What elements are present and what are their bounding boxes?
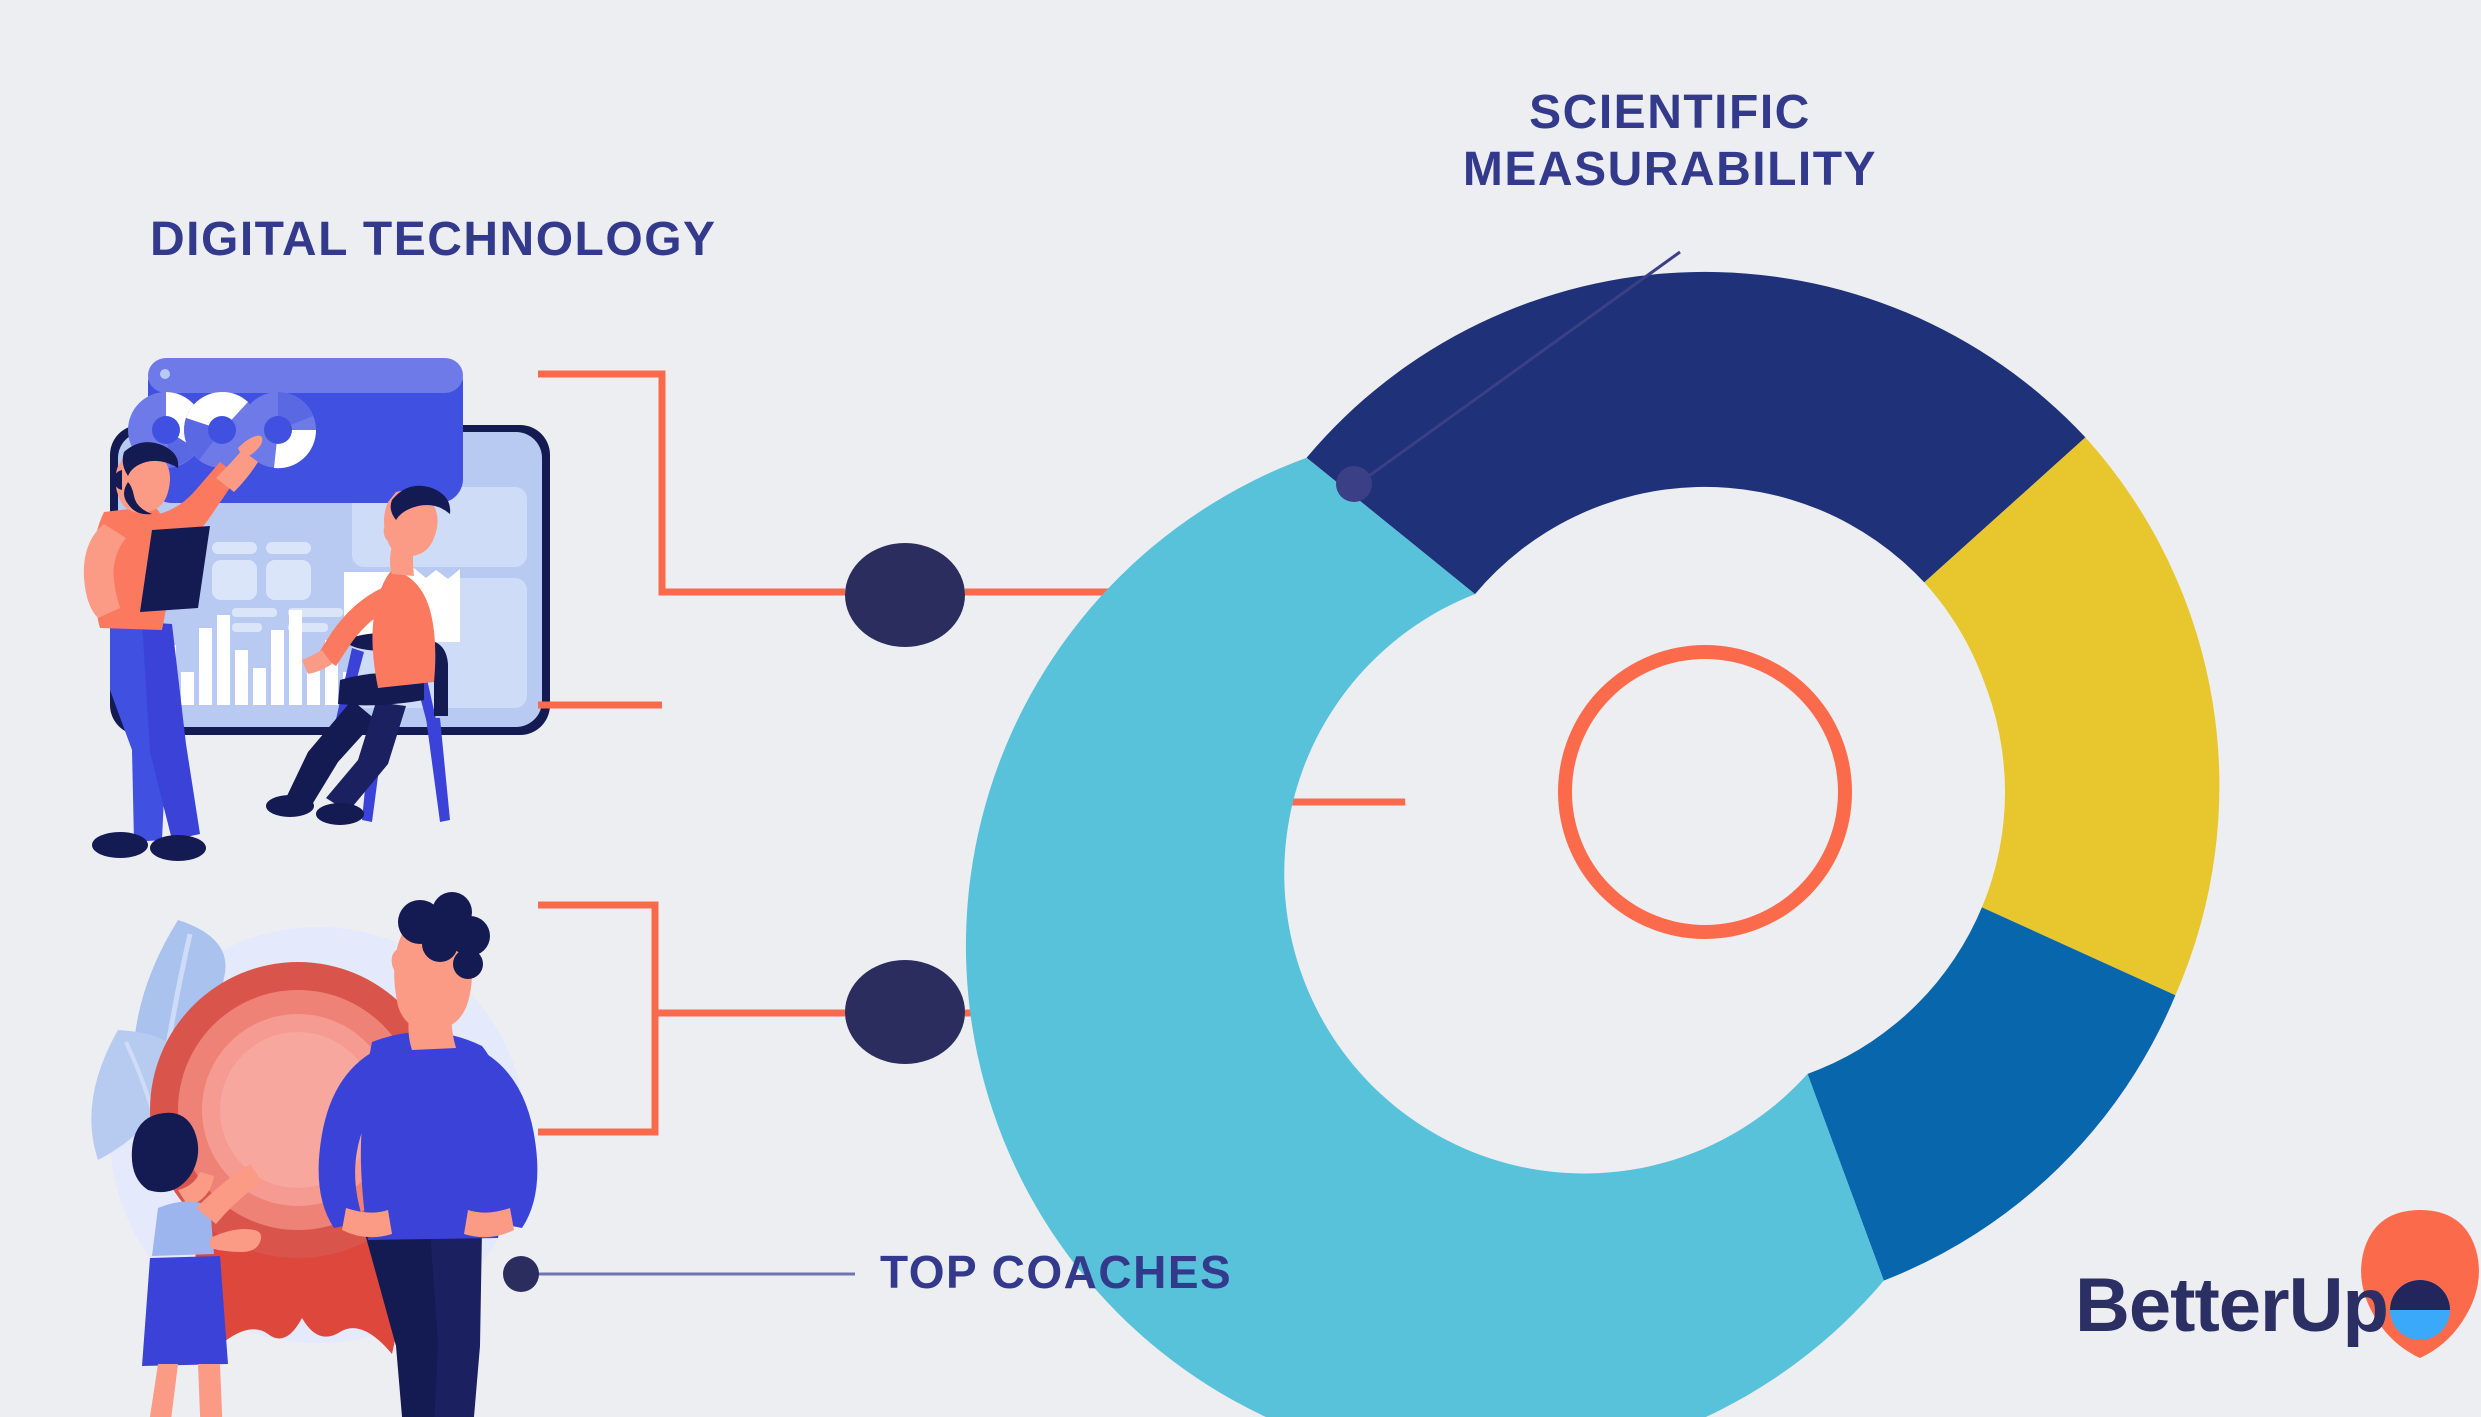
betterup-wordmark[interactable]: BetterUp	[2075, 1262, 2388, 1349]
award-medal-illustration	[91, 892, 537, 1417]
label-scientific-measurability: SCIENTIFIC MEASURABILITY	[1440, 85, 1900, 198]
node-top-coaches[interactable]	[845, 960, 965, 1064]
dashboard-analytics-illustration	[84, 358, 550, 861]
leader-dot-scientific[interactable]	[1336, 466, 1372, 502]
label-top-coaches: TOP COACHES	[880, 1245, 1232, 1299]
label-digital-technology: DIGITAL TECHNOLOGY	[150, 212, 717, 269]
leader-dot-top-coaches[interactable]	[503, 1256, 539, 1292]
node-digital-technology[interactable]	[845, 543, 965, 647]
leader-top-coaches	[503, 1256, 855, 1292]
infographic-canvas: DIGITAL TECHNOLOGY SCIENTIFIC MEASURABIL…	[0, 0, 2481, 1417]
